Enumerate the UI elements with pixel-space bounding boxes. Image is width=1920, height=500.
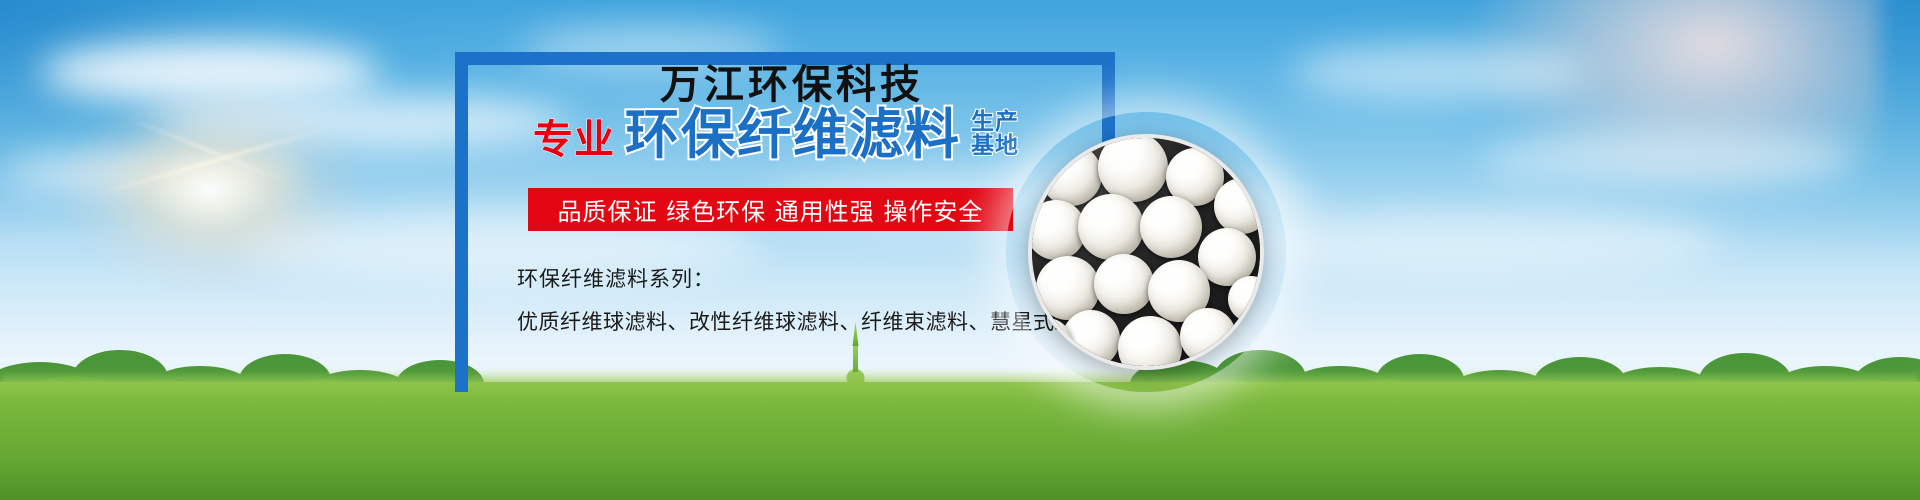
description-label: 环保纤维滤料系列： [517,263,715,293]
fiber-ball [1040,144,1102,206]
headline-prefix: 专业 [533,120,615,160]
fiber-ball [1098,134,1168,202]
headline-suffix-line2: 基地 [971,134,1019,158]
fiber-ball [1140,196,1202,258]
headline-suffix: 生产 基地 [971,110,1019,158]
features-bar: 品质保证 绿色环保 通用性强 操作安全 [528,188,1013,231]
fiber-ball [1180,308,1236,364]
fiber-ball [1094,254,1154,314]
headline-suffix-line1: 生产 [971,110,1019,134]
features-bar-text: 品质保证 绿色环保 通用性强 操作安全 [558,192,984,227]
promo-banner: 万江环保科技 专业 环保纤维滤料 生产 基地 品质保证 绿色环保 通用性强 操作… [0,0,1920,500]
headline-main: 环保纤维滤料 [625,108,961,162]
headline-group: 专业 环保纤维滤料 生产 基地 [533,108,1019,162]
cloud [1480,130,1860,188]
fiber-ball [1078,194,1144,260]
company-title: 万江环保科技 [660,52,924,110]
product-photo [1028,134,1264,370]
fiber-ball [1214,178,1264,234]
cloud [1290,44,1590,100]
